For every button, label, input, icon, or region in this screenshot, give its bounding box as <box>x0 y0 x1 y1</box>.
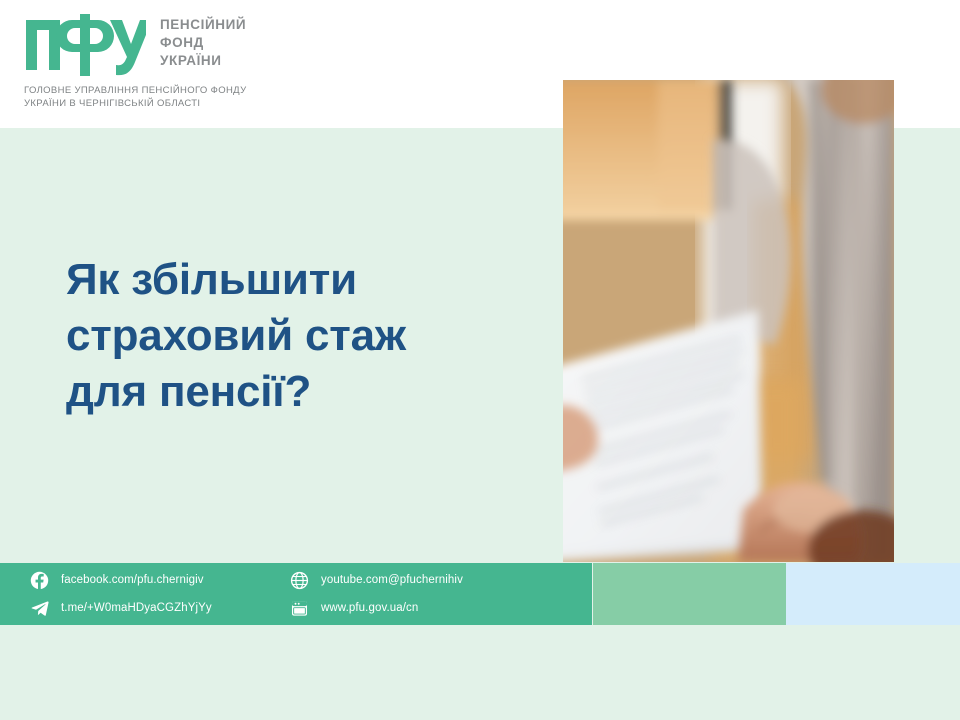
telegram-icon <box>30 599 49 618</box>
slide-title-line-1: Як збільшити <box>66 252 506 308</box>
facebook-icon <box>30 571 49 590</box>
hero-photo <box>563 80 894 562</box>
logo-row: Пенсійний Фонд України <box>24 14 544 76</box>
brand-header: Пенсійний Фонд України ГОЛОВНЕ УПРАВЛІНН… <box>24 14 544 110</box>
footer-link-telegram[interactable]: t.me/+W0maHDyaCGZhYjYy <box>30 597 280 619</box>
org-name-line-1: ГОЛОВНЕ УПРАВЛІННЯ ПЕНСІЙНОГО ФОНДУ <box>24 84 544 97</box>
org-name-line-2: УКРАЇНИ В ЧЕРНІГІВСЬКІЙ ОБЛАСТІ <box>24 97 544 110</box>
slide-title-line-2: страховий стаж <box>66 308 506 364</box>
browser-icon <box>290 599 309 618</box>
footer-link-label: www.pfu.gov.ua/cn <box>321 602 418 614</box>
logo-word-line-2: Фонд <box>160 34 246 52</box>
footer-link-youtube[interactable]: youtube.com@pfuchernihiv <box>290 569 570 591</box>
hero-photo-image <box>563 80 894 562</box>
footer-link-label: t.me/+W0maHDyaCGZhYjYy <box>61 602 212 614</box>
footer-link-facebook[interactable]: facebook.com/pfu.chernigiv <box>30 569 280 591</box>
slide-title: Як збільшити страховий стаж для пенсії? <box>66 252 506 420</box>
logo-word-line-3: України <box>160 52 246 70</box>
logo-wordmark: Пенсійний Фонд України <box>160 16 246 70</box>
footer-link-label: youtube.com@pfuchernihiv <box>321 574 463 586</box>
pfu-logo-icon <box>24 14 146 76</box>
footer-column-left: facebook.com/pfu.chernigiv t.me/+W0maHDy… <box>30 569 280 619</box>
footer-link-label: facebook.com/pfu.chernigiv <box>61 574 204 586</box>
footer-links: facebook.com/pfu.chernigiv t.me/+W0maHDy… <box>0 563 592 625</box>
logo-word-line-1: Пенсійний <box>160 16 246 34</box>
footer-column-right: youtube.com@pfuchernihiv www.pfu.gov.ua/… <box>290 569 570 619</box>
globe-icon <box>290 571 309 590</box>
footer-accent-block <box>593 563 786 625</box>
footer-link-website[interactable]: www.pfu.gov.ua/cn <box>290 597 570 619</box>
slide-canvas: Пенсійний Фонд України ГОЛОВНЕ УПРАВЛІНН… <box>0 0 960 720</box>
footer-blue-block <box>786 563 960 625</box>
slide-title-line-3: для пенсії? <box>66 364 506 420</box>
